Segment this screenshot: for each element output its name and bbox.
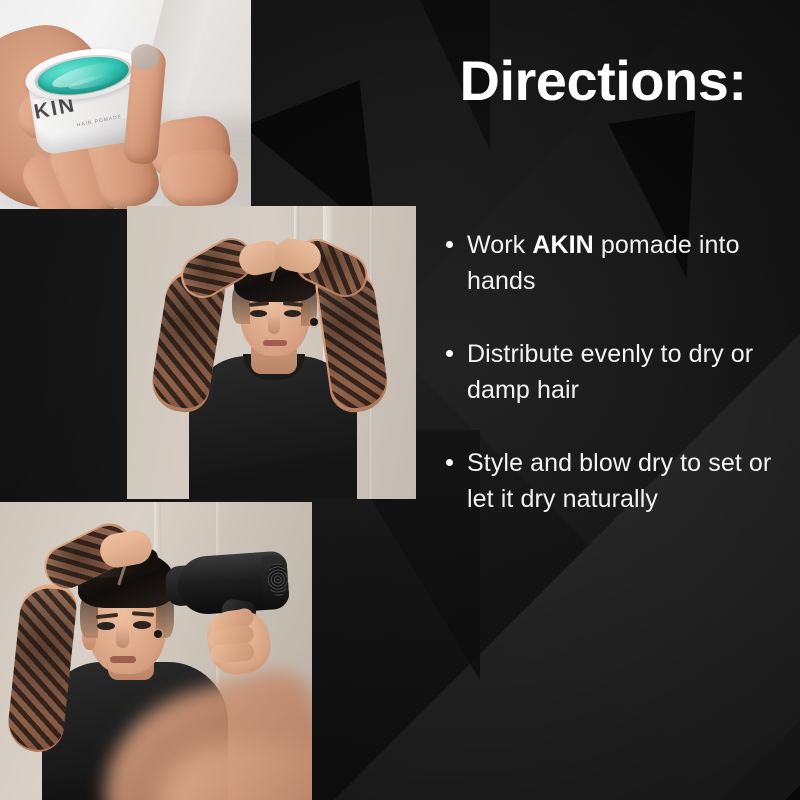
dryer-model-eye-left [97,622,115,630]
index-fingertip-product [131,44,159,70]
bullet-dot-icon [446,241,453,248]
directions-list: Work AKIN pomade into hands Distribute e… [446,228,798,517]
dryer-model-earring [154,630,162,638]
model-eye-left [250,310,267,317]
list-item-text: Distribute evenly to dry or damp hair [467,337,798,408]
bullet-dot-icon [446,350,453,357]
dryer-model-mouth [110,656,136,663]
list-item: Style and blow dry to set or let it dry … [446,446,798,517]
bullet-dot-icon [446,459,453,466]
dryer-model-nose [116,626,129,648]
poster-canvas: KIN HAIR POMADE [0,0,800,800]
page-title: Directions: [420,52,786,111]
second-hand-finger-lower [158,147,240,208]
list-item: Work AKIN pomade into hands [446,228,798,299]
list-item: Distribute evenly to dry or damp hair [446,337,798,408]
dryer-grip-finger-3 [209,642,254,663]
model-nose [268,314,280,334]
photo-pomade-jar: KIN HAIR POMADE [0,0,251,209]
copy-column: Directions: Work AKIN pomade into hands … [420,0,800,800]
photo-blow-drying [0,502,312,800]
brand-emphasis: AKIN [532,231,594,259]
list-item-lead: Style and blow dry to set or let it dry … [467,449,771,513]
list-item-lead: Distribute evenly to dry or damp hair [467,340,753,404]
list-item-text: Style and blow dry to set or let it dry … [467,446,798,517]
list-item-text: Work AKIN pomade into hands [467,228,798,299]
model-earring [310,318,318,326]
model-mouth [263,340,287,346]
model-eye-right [284,310,301,317]
dryer-model-eye-right [133,621,151,629]
photo-styling-hair [127,206,416,499]
list-item-lead: Work [467,231,532,259]
hair-dryer [176,546,296,620]
